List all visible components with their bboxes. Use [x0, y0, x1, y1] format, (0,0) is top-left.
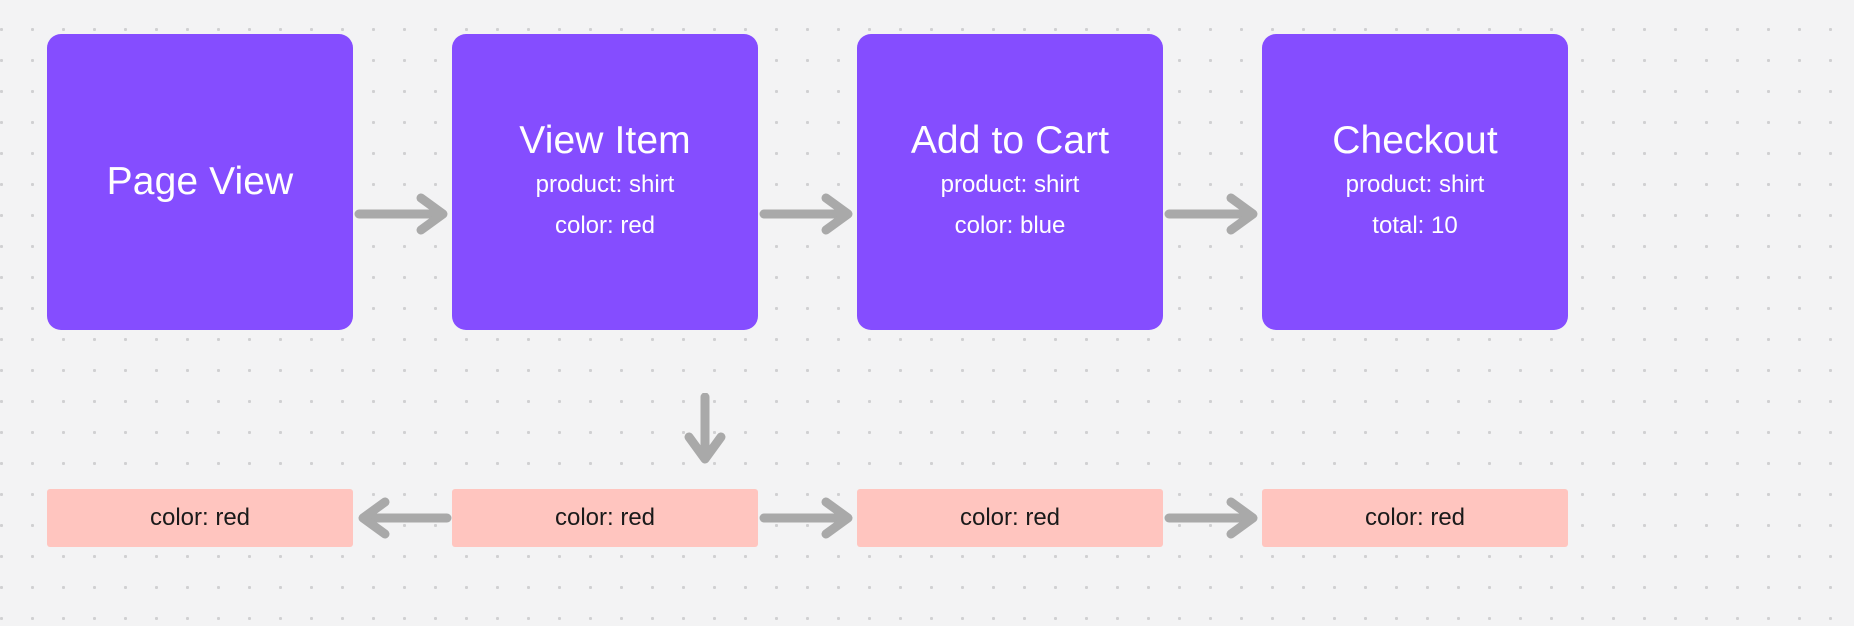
property-box-4[interactable]: color: red — [1262, 489, 1568, 547]
property-box-row: color: red color: red color: red color: … — [0, 489, 1854, 547]
event-node-title: Add to Cart — [911, 118, 1109, 164]
event-node-page-view[interactable]: Page View — [47, 34, 353, 330]
event-node-detail: total: 10 — [1372, 205, 1457, 246]
event-node-view-item[interactable]: View Item product: shirt color: red — [452, 34, 758, 330]
flow-diagram-canvas: Page View View Item product: shirt color… — [0, 0, 1854, 626]
event-node-detail: color: blue — [955, 205, 1066, 246]
event-node-checkout[interactable]: Checkout product: shirt total: 10 — [1262, 34, 1568, 330]
property-box-2[interactable]: color: red — [452, 489, 758, 547]
event-node-detail: product: shirt — [1346, 164, 1485, 205]
event-node-detail: product: shirt — [536, 164, 675, 205]
property-box-1[interactable]: color: red — [47, 489, 353, 547]
event-node-add-to-cart[interactable]: Add to Cart product: shirt color: blue — [857, 34, 1163, 330]
property-label: color: red — [960, 504, 1060, 532]
property-label: color: red — [150, 504, 250, 532]
property-box-3[interactable]: color: red — [857, 489, 1163, 547]
arrow-down-view-item-to-property — [681, 393, 729, 469]
event-node-row: Page View View Item product: shirt color… — [0, 34, 1854, 330]
event-node-title: Checkout — [1332, 118, 1498, 164]
event-node-title: View Item — [519, 118, 690, 164]
property-label: color: red — [1365, 504, 1465, 532]
event-node-detail: product: shirt — [941, 164, 1080, 205]
property-label: color: red — [555, 504, 655, 532]
event-node-title: Page View — [107, 159, 294, 205]
event-node-detail: color: red — [555, 205, 655, 246]
